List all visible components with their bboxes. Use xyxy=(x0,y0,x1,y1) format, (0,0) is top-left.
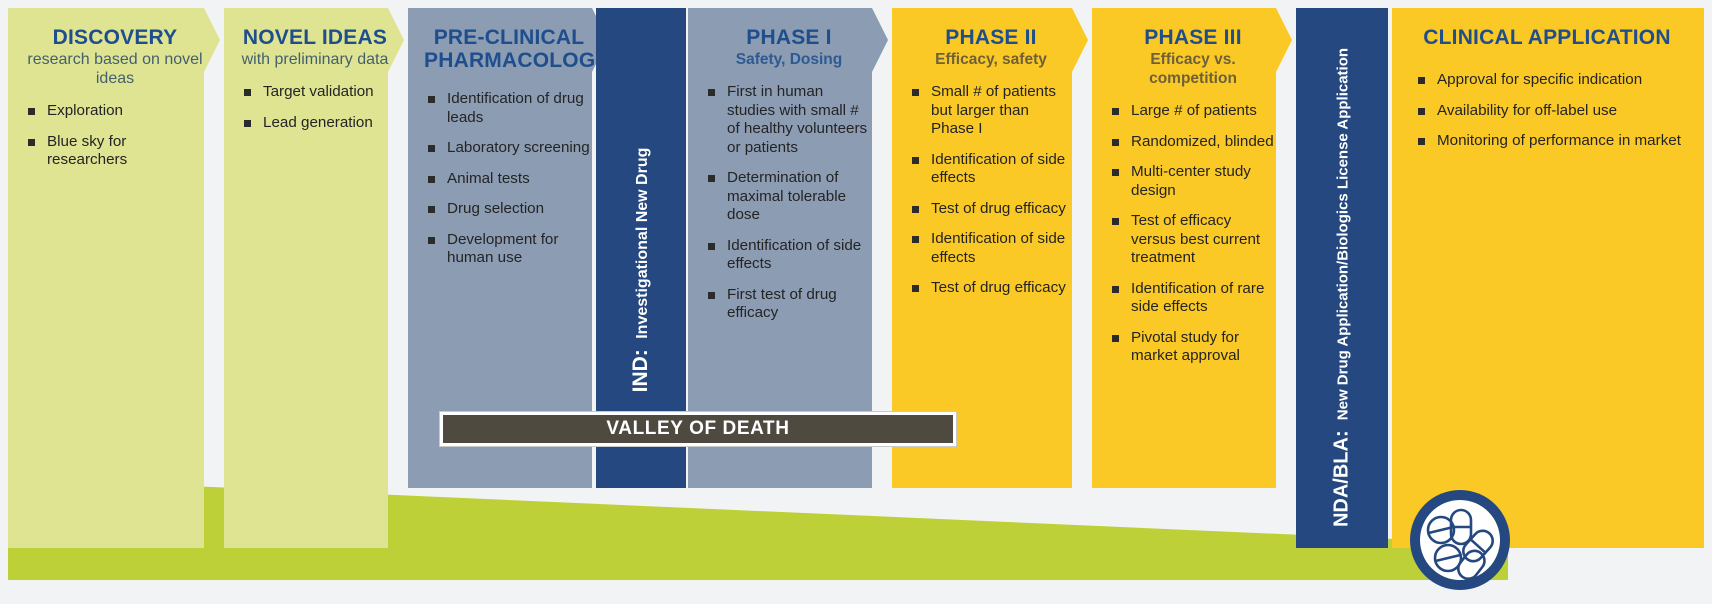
list-item: Identification of rare side effects xyxy=(1112,280,1278,317)
stage-bullets-clinical-application: Approval for specific indication Availab… xyxy=(1418,71,1690,151)
gate-ribbon-nda-bla[interactable]: NDA/BLA: New Drug Application/Biologics … xyxy=(1296,8,1388,548)
list-item: Identification of drug leads xyxy=(428,90,594,127)
list-item: Lead generation xyxy=(244,114,390,133)
valley-of-death-bar: VALLEY OF DEATH xyxy=(440,412,956,446)
list-item: Laboratory screening xyxy=(428,139,594,158)
list-item: Multi-center study design xyxy=(1112,163,1278,200)
list-item: Drug selection xyxy=(428,200,594,219)
stage-bullets-phase-2: Small # of patients but larger than Phas… xyxy=(912,83,1074,298)
list-item: Test of drug efficacy xyxy=(912,279,1074,298)
stage-title-phase-3: PHASE III xyxy=(1108,20,1278,49)
stage-title-pre-clinical-pharmacology: PRE-CLINICAL PHARMACOLOGY xyxy=(424,20,594,72)
stage-subtitle-novel-ideas: with preliminary data xyxy=(240,50,390,69)
list-item: Test of drug efficacy xyxy=(912,200,1074,219)
list-item: Animal tests xyxy=(428,170,594,189)
gate-label-nda-bla: NDA/BLA: New Drug Application/Biologics … xyxy=(1331,48,1354,527)
stage-subtitle-phase-1: Safety, Dosing xyxy=(704,50,874,69)
stage-title-clinical-application: CLINICAL APPLICATION xyxy=(1414,20,1690,49)
stage-title-discovery: DISCOVERY xyxy=(24,20,206,49)
stage-subtitle-discovery: research based on novel ideas xyxy=(24,50,206,88)
stage-title-phase-2: PHASE II xyxy=(908,20,1074,49)
stage-panel-discovery[interactable]: DISCOVERY research based on novel ideas … xyxy=(8,8,220,548)
list-item: Identification of side effects xyxy=(912,151,1074,188)
list-item: Blue sky for researchers xyxy=(28,133,206,170)
stage-subtitle-phase-3: Efficacy vs. competition xyxy=(1108,50,1278,88)
pills-capsules-icon xyxy=(1408,488,1512,592)
list-item: Large # of patients xyxy=(1112,102,1278,121)
stage-title-novel-ideas: NOVEL IDEAS xyxy=(240,20,390,49)
pipeline-diagram: DISCOVERY research based on novel ideas … xyxy=(0,0,1712,604)
list-item: Test of efficacy versus best current tre… xyxy=(1112,212,1278,268)
gate-label-ind: IND: Investigational New Drug xyxy=(629,148,653,393)
stage-bullets-novel-ideas: Target validation Lead generation xyxy=(244,83,390,132)
valley-of-death-label: VALLEY OF DEATH xyxy=(606,418,789,440)
stage-title-phase-1: PHASE I xyxy=(704,20,874,49)
stage-subtitle-phase-2: Efficacy, safety xyxy=(908,50,1074,69)
list-item: Monitoring of performance in market xyxy=(1418,132,1690,151)
gate-abbr-nda-bla: NDA/BLA: xyxy=(1331,430,1353,527)
gate-expansion-ind: Investigational New Drug xyxy=(634,148,651,339)
list-item: Target validation xyxy=(244,83,390,102)
list-item: Identification of side effects xyxy=(708,237,874,274)
stage-panel-phase-3[interactable]: PHASE III Efficacy vs. competition Large… xyxy=(1092,8,1292,488)
list-item: Pivotal study for market approval xyxy=(1112,329,1278,366)
list-item: Small # of patients but larger than Phas… xyxy=(912,83,1074,139)
stage-bullets-phase-1: First in human studies with small # of h… xyxy=(708,83,874,323)
stage-bullets-pre-clinical-pharmacology: Identification of drug leads Laboratory … xyxy=(428,90,594,268)
list-item: Determination of maximal tolerable dose xyxy=(708,169,874,225)
list-item: First test of drug efficacy xyxy=(708,286,874,323)
stage-panel-clinical-application[interactable]: CLINICAL APPLICATION Approval for specif… xyxy=(1392,8,1704,548)
stage-bullets-discovery: Exploration Blue sky for researchers xyxy=(28,102,206,170)
gate-abbr-ind: IND: xyxy=(629,349,652,392)
list-item: Exploration xyxy=(28,102,206,121)
list-item: Randomized, blinded xyxy=(1112,133,1278,152)
list-item: First in human studies with small # of h… xyxy=(708,83,874,157)
stage-bullets-phase-3: Large # of patients Randomized, blinded … xyxy=(1112,102,1278,366)
gate-expansion-nda-bla: New Drug Application/Biologics License A… xyxy=(1335,48,1352,420)
list-item: Development for human use xyxy=(428,231,594,268)
stage-panel-novel-ideas[interactable]: NOVEL IDEAS with preliminary data Target… xyxy=(224,8,404,548)
list-item: Identification of side effects xyxy=(912,230,1074,267)
list-item: Availability for off-label use xyxy=(1418,102,1690,121)
list-item: Approval for specific indication xyxy=(1418,71,1690,90)
